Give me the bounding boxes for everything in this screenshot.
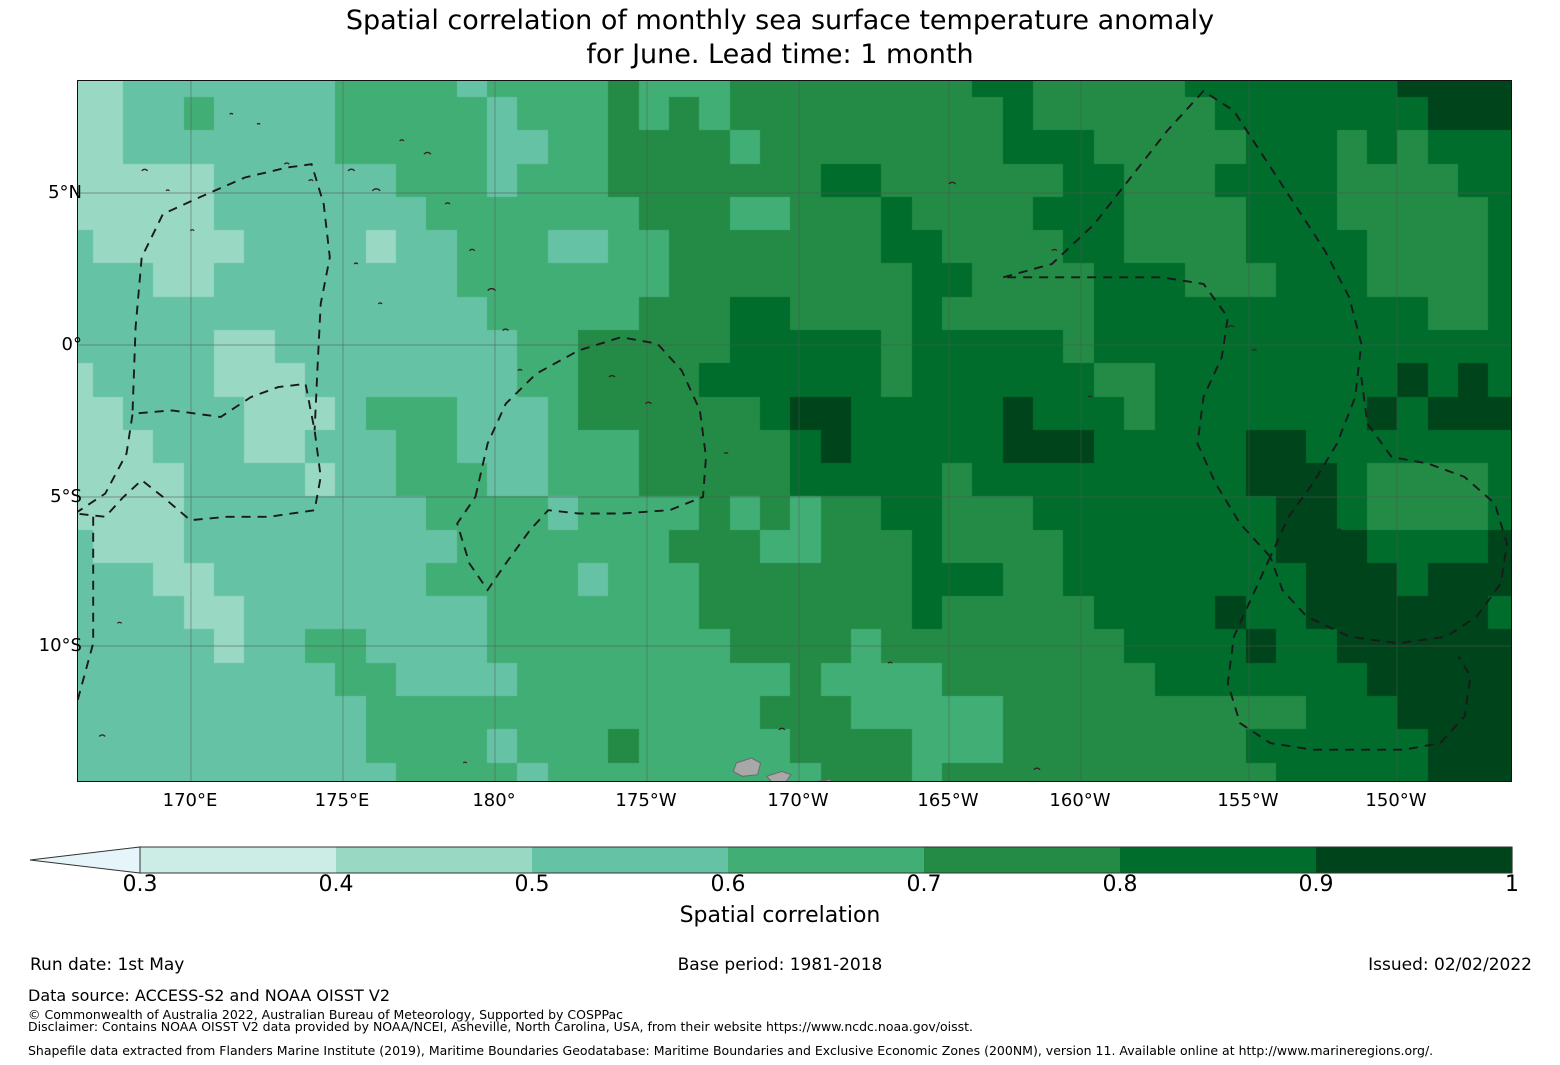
coastline-speck (1228, 326, 1234, 328)
disclaimer-text: Disclaimer: Contains NOAA OISST V2 data … (28, 1019, 973, 1034)
coastline-speck (724, 453, 728, 454)
eez-boundary (133, 164, 330, 430)
colorbar-tick-label: 0.3 (80, 872, 200, 897)
eez-boundary (1003, 91, 1507, 643)
eez-boundary (1003, 277, 1270, 557)
coastline-speck (1088, 396, 1091, 397)
eez-boundary (457, 337, 706, 590)
colorbar-segment (336, 847, 533, 873)
coastline-speck (949, 182, 956, 184)
coastline-speck (354, 263, 358, 264)
colorbar-segment (140, 847, 337, 873)
issued-date-text: Issued: 02/02/2022 (1368, 955, 1532, 975)
x-tick-label: 170°E (120, 790, 260, 811)
coastline-speck (503, 329, 509, 330)
coastline-speck (1252, 349, 1257, 350)
coastline-speck (400, 140, 404, 141)
colorbar-segment (532, 847, 729, 873)
x-tick-label: 175°E (272, 790, 412, 811)
colorbar-segment (1316, 847, 1513, 873)
island-upolu (767, 771, 791, 782)
colorbar-extend-min-arrow (30, 847, 140, 873)
coastline-speck (1034, 768, 1041, 770)
x-tick-label: 165°W (878, 790, 1018, 811)
graticule-lines (78, 81, 1512, 782)
colorbar-segment (728, 847, 925, 873)
coastline-speck (166, 190, 170, 191)
base-period-text: Base period: 1981-2018 (0, 955, 1560, 975)
coastline-speck (609, 376, 615, 378)
coastline-speck (230, 113, 233, 114)
coastline-speck (348, 169, 355, 171)
eez-boundary (78, 384, 321, 520)
metadata-row: Run date: 1st May Base period: 1981-2018… (0, 955, 1560, 981)
coastline-speck (645, 402, 651, 404)
coastline-speck (424, 152, 431, 154)
colorbar-tick-label: 0.8 (1060, 872, 1180, 897)
x-tick-label: 155°W (1178, 790, 1318, 811)
coastline-speck (463, 762, 467, 763)
eez-boundary (1228, 557, 1471, 750)
coastline-speck (284, 163, 289, 164)
eez-boundary-lines (78, 91, 1507, 782)
coastline-speck (779, 728, 785, 730)
coastline-speck (99, 735, 105, 737)
coastline-speck (378, 303, 382, 304)
coastline-speck (1052, 249, 1057, 250)
y-tick-label: 5°S (0, 486, 82, 507)
colorbar-tick-label: 0.6 (668, 872, 788, 897)
coastline-speck (142, 169, 148, 171)
coastline-speck (469, 249, 474, 250)
coastline-specks (99, 113, 1341, 769)
coastline-speck (445, 203, 450, 204)
map-vector-overlay (78, 81, 1512, 782)
colorbar-segment (924, 847, 1121, 873)
map-plot-area (77, 80, 1512, 782)
island-landmasses (733, 758, 832, 782)
coastline-speck (190, 230, 194, 231)
colorbar-tick-label: 0.9 (1256, 872, 1376, 897)
island-tutuila (818, 780, 832, 782)
coastline-speck (372, 189, 380, 191)
x-tick-label: 175°W (576, 790, 716, 811)
colorbar-tick-label: 0.5 (472, 872, 592, 897)
colorbar-tick-label: 0.4 (276, 872, 396, 897)
y-tick-label: 10°S (0, 635, 82, 656)
x-tick-label: 160°W (1010, 790, 1150, 811)
x-tick-label: 150°W (1326, 790, 1466, 811)
y-tick-label: 5°N (0, 182, 82, 203)
coastline-speck (518, 369, 522, 370)
coastline-speck (309, 180, 314, 181)
y-tick-label: 0° (0, 334, 82, 355)
colorbar-tick-label: 1 (1452, 872, 1560, 897)
island-savaii (733, 758, 760, 776)
coastline-speck (488, 289, 496, 291)
page-title: Spatial correlation of monthly sea surfa… (0, 4, 1560, 72)
coastline-speck (888, 662, 892, 663)
x-tick-label: 180° (424, 790, 564, 811)
data-source-text: Data source: ACCESS-S2 and NOAA OISST V2 (28, 986, 390, 1005)
colorbar-tick-label: 0.7 (864, 872, 984, 897)
shapefile-attribution-text: Shapefile data extracted from Flanders M… (28, 1043, 1433, 1058)
coastline-speck (117, 622, 121, 623)
coastline-speck (257, 124, 260, 125)
colorbar-axis-label: Spatial correlation (0, 903, 1560, 928)
x-tick-label: 170°W (728, 790, 868, 811)
coastline-speck (1337, 529, 1341, 530)
colorbar-segment (1120, 847, 1317, 873)
